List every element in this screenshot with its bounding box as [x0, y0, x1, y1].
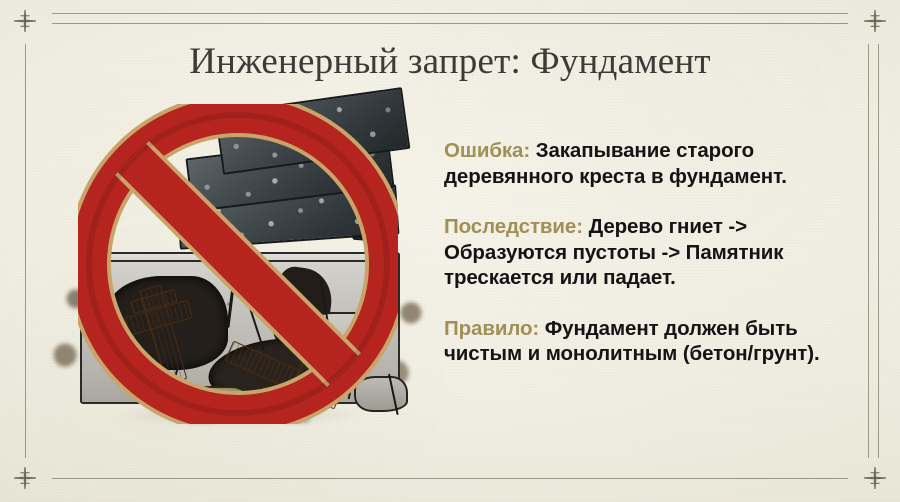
frame-rule-left [25, 44, 26, 458]
illustration-buried-cross [58, 100, 418, 466]
cross-ornament-icon-top-left [12, 8, 38, 34]
paragraph-label-rule: Правило: [444, 317, 539, 340]
prohibition-no-symbol-icon [78, 104, 398, 424]
cross-ornament-icon-bottom-right [862, 465, 888, 491]
frame-rule-top-outer [52, 13, 848, 14]
slide-root: Инженерный запрет: Фундамент [0, 0, 900, 502]
page-title: Инженерный запрет: Фундамент [0, 41, 900, 82]
frame-rule-bottom [52, 478, 848, 479]
cross-ornament-icon-top-right [862, 8, 888, 34]
frame-rule-right-outer [878, 44, 879, 458]
paragraph-label-mistake: Ошибка: [444, 139, 530, 162]
text-content-column: Ошибка: Закапывание старого деревянного … [444, 138, 854, 367]
paragraph-consequence: Последствие: Дерево гниет -> Образуются … [444, 214, 854, 291]
frame-rule-top-inner [52, 23, 848, 24]
paragraph-rule: Правило: Фундамент должен быть чистым и … [444, 316, 854, 367]
paragraph-mistake: Ошибка: Закапывание старого деревянного … [444, 138, 854, 189]
frame-rule-right-inner [868, 44, 869, 458]
cross-ornament-icon-bottom-left [12, 465, 38, 491]
paragraph-label-consequence: Последствие: [444, 215, 583, 238]
